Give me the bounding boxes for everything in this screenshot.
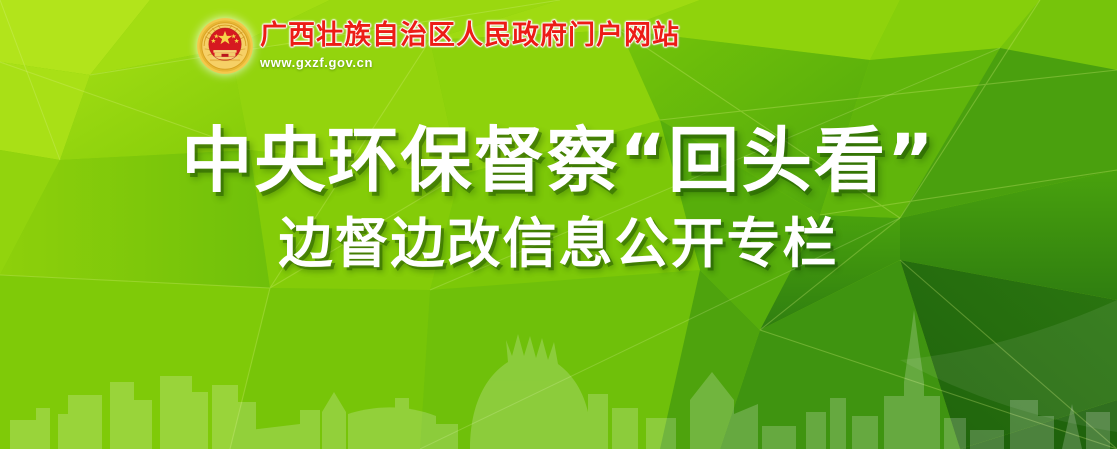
site-url: www.gxzf.gov.cn xyxy=(260,55,680,70)
site-name: 广西壮族自治区人民政府门户网站 xyxy=(260,20,680,50)
site-logo[interactable]: 广西壮族自治区人民政府门户网站 www.gxzf.gov.cn xyxy=(196,16,680,75)
china-national-emblem-icon xyxy=(196,17,254,75)
gxzf-environmental-inspection-banner: 广西壮族自治区人民政府门户网站 www.gxzf.gov.cn 中央环保督察“回… xyxy=(0,0,1117,449)
logo-text-group: 广西壮族自治区人民政府门户网站 www.gxzf.gov.cn xyxy=(260,16,680,70)
